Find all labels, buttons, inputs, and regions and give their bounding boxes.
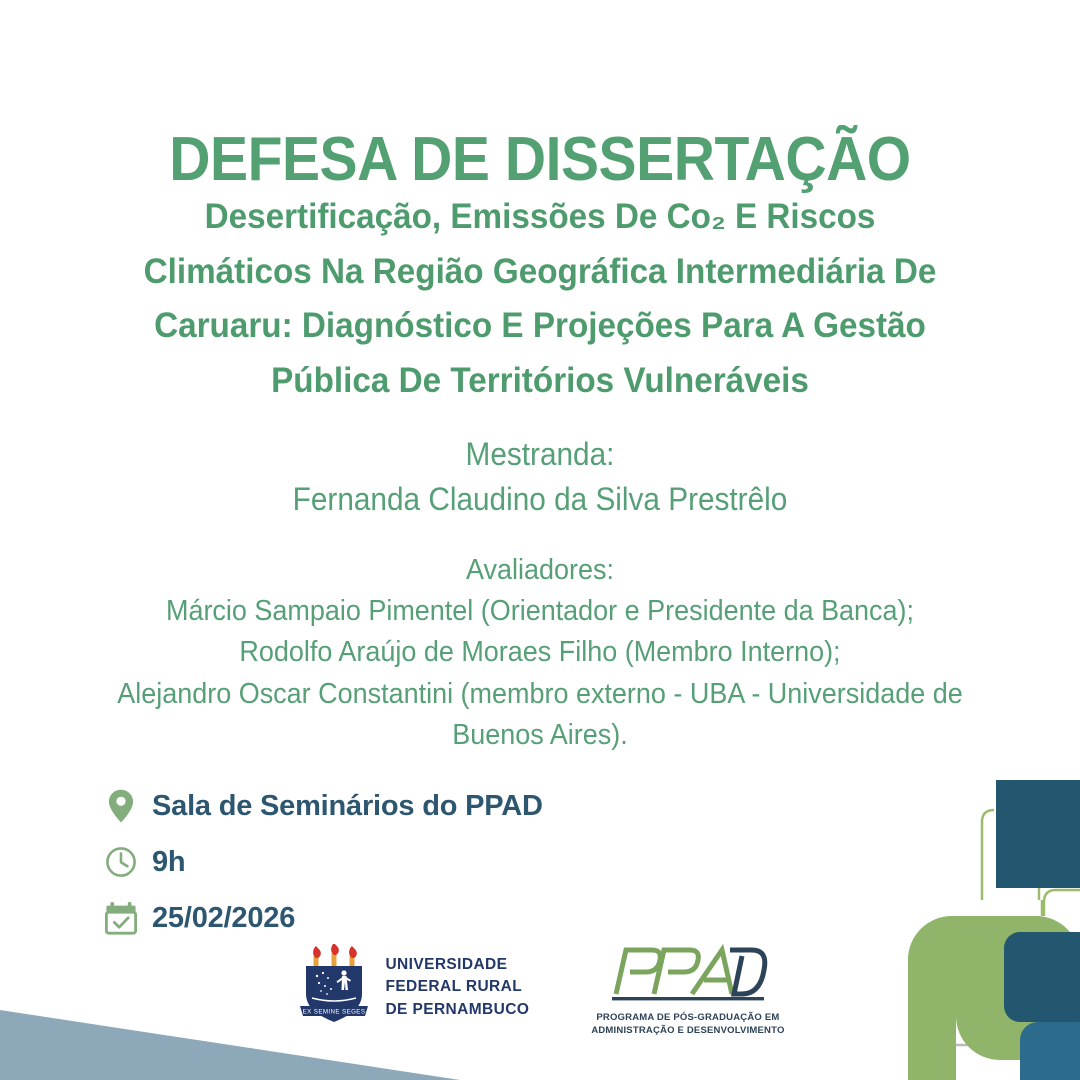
committee-label: Avaliadores: [94, 550, 987, 591]
ufrpe-crest-icon: EX SEMINE SEGES [295, 944, 373, 1031]
detail-row-date: 25/02/2026 [104, 890, 804, 946]
ufrpe-torches [314, 944, 358, 968]
poster-content: DEFESA DE DISSERTAÇÃO Desertificação, Em… [0, 0, 1080, 1080]
committee-member: Rodolfo Araújo de Moraes Filho (Membro I… [94, 632, 987, 673]
ufrpe-logo: EX SEMINE SEGES UNIVERSIDADE FEDERAL RUR… [295, 944, 529, 1031]
event-details-list: Sala de Seminários do PPAD 9h [104, 778, 804, 946]
ufrpe-wordmark: UNIVERSIDADE FEDERAL RURAL DE PERNAMBUCO [385, 954, 529, 1021]
ufrpe-motto: EX SEMINE SEGES [303, 1008, 366, 1015]
committee-member: Márcio Sampaio Pimentel (Orientador e Pr… [94, 591, 987, 632]
ufrpe-wordmark-line: UNIVERSIDADE [385, 954, 529, 976]
page-title: DEFESA DE DISSERTAÇÃO [43, 128, 1037, 191]
detail-row-location: Sala de Seminários do PPAD [104, 778, 804, 834]
student-label: Mestranda: [122, 432, 959, 477]
subtitle-line: Desertificação, Emissões De Co₂ E Riscos [113, 190, 968, 245]
committee-member: Buenos Aires). [94, 715, 987, 756]
subtitle-line: Caruaru: Diagnóstico E Projeções Para A … [113, 299, 968, 354]
student-block: Mestranda: Fernanda Claudino da Silva Pr… [122, 432, 959, 523]
ufrpe-wordmark-line: FEDERAL RURAL [385, 976, 529, 998]
calendar-check-icon [104, 901, 138, 935]
ppad-letter-d [730, 950, 765, 994]
ppad-underline [612, 997, 764, 1000]
logo-strip: EX SEMINE SEGES UNIVERSIDADE FEDERAL RUR… [0, 944, 1080, 1038]
ppad-subtitle-line: ADMINISTRAÇÃO E DESENVOLVIMENTO [591, 1025, 784, 1038]
subtitle-line: Climáticos Na Região Geográfica Intermed… [113, 245, 968, 300]
ppad-subtitle-line: PROGRAMA DE PÓS-GRADUAÇÃO EM [591, 1012, 784, 1025]
ppad-letter-p2 [654, 950, 698, 994]
student-name: Fernanda Claudino da Silva Prestrêlo [122, 477, 959, 522]
poster-canvas: DEFESA DE DISSERTAÇÃO Desertificação, Em… [0, 0, 1080, 1080]
ppad-wordmark-icon [600, 944, 776, 1009]
detail-text-location: Sala de Seminários do PPAD [152, 790, 543, 823]
location-pin-icon [104, 789, 138, 823]
committee-member: Alejandro Oscar Constantini (membro exte… [94, 674, 987, 715]
clock-icon [104, 845, 138, 879]
committee-block: Avaliadores: Márcio Sampaio Pimentel (Or… [94, 550, 987, 756]
detail-text-time: 9h [152, 846, 185, 879]
ufrpe-wordmark-line: DE PERNAMBUCO [385, 999, 529, 1021]
detail-row-time: 9h [104, 834, 804, 890]
dissertation-subtitle: Desertificação, Emissões De Co₂ E Riscos… [113, 190, 968, 408]
ppad-logo: PROGRAMA DE PÓS-GRADUAÇÃO EM ADMINISTRAÇ… [591, 944, 784, 1038]
detail-text-date: 25/02/2026 [152, 902, 295, 935]
subtitle-line: Pública De Territórios Vulneráveis [113, 354, 968, 409]
ppad-subtitle: PROGRAMA DE PÓS-GRADUAÇÃO EM ADMINISTRAÇ… [591, 1012, 784, 1038]
